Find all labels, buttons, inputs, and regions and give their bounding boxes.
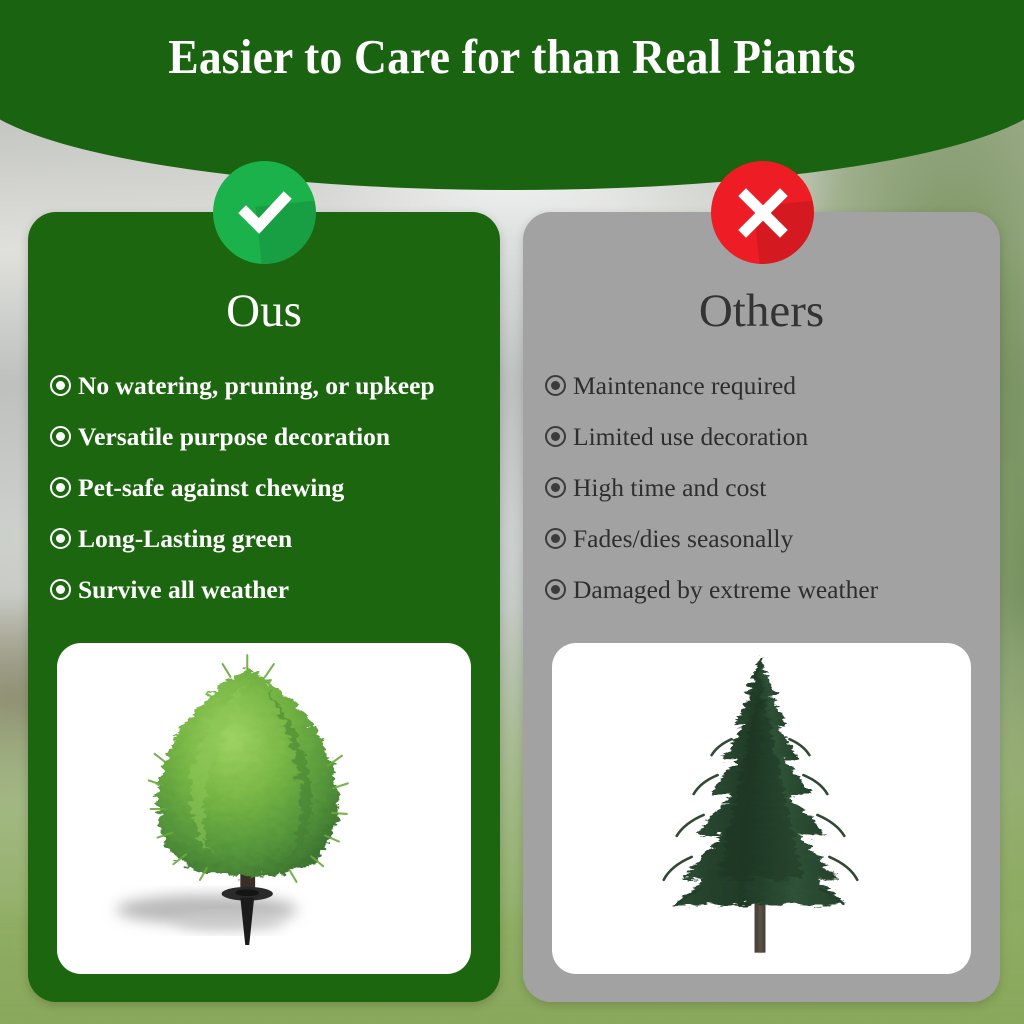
- list-item: High time and cost: [523, 462, 1000, 513]
- ours-product-photo: [57, 643, 471, 974]
- list-item: Long-Lasting green: [28, 513, 500, 564]
- list-item: Fades/dies seasonally: [523, 513, 1000, 564]
- list-item: No watering, pruning, or upkeep: [28, 360, 500, 411]
- feature-label: Maintenance required: [573, 371, 796, 401]
- cross-badge: [711, 161, 814, 264]
- feature-label: Fades/dies seasonally: [573, 524, 793, 554]
- feature-label: High time and cost: [573, 473, 766, 503]
- list-item: Survive all weather: [28, 564, 500, 615]
- bullet-icon: [545, 528, 566, 549]
- page-title: Easier to Care for than Real Piants: [36, 0, 988, 112]
- bullet-icon: [50, 528, 71, 549]
- feature-label: Survive all weather: [78, 575, 289, 605]
- ours-feature-list: No watering, pruning, or upkeep Versatil…: [28, 360, 500, 615]
- comparison-infographic: Easier to Care for than Real Piants Ous …: [0, 0, 1024, 1024]
- bullet-icon: [545, 579, 566, 600]
- ours-heading: Ous: [28, 288, 500, 335]
- others-heading: Others: [523, 288, 1000, 335]
- list-item: Pet-safe against chewing: [28, 462, 500, 513]
- feature-label: Versatile purpose decoration: [78, 422, 390, 452]
- bullet-icon: [50, 375, 71, 396]
- feature-label: Pet-safe against chewing: [78, 473, 344, 503]
- others-feature-list: Maintenance required Limited use decorat…: [523, 360, 1000, 615]
- list-item: Limited use decoration: [523, 411, 1000, 462]
- bullet-icon: [545, 426, 566, 447]
- others-product-photo: [552, 643, 971, 974]
- feature-label: No watering, pruning, or upkeep: [78, 371, 435, 401]
- cross-icon: [734, 184, 792, 242]
- bullet-icon: [50, 477, 71, 498]
- bullet-icon: [545, 477, 566, 498]
- check-icon: [234, 182, 296, 244]
- list-item: Damaged by extreme weather: [523, 564, 1000, 615]
- list-item: Versatile purpose decoration: [28, 411, 500, 462]
- feature-label: Limited use decoration: [573, 422, 808, 452]
- feature-label: Long-Lasting green: [78, 524, 292, 554]
- feature-label: Damaged by extreme weather: [573, 575, 878, 605]
- bullet-icon: [50, 426, 71, 447]
- check-badge: [213, 161, 316, 264]
- bullet-icon: [50, 579, 71, 600]
- bullet-icon: [545, 375, 566, 396]
- others-card: Others Maintenance required Limited use …: [523, 212, 1000, 1002]
- list-item: Maintenance required: [523, 360, 1000, 411]
- ours-card: Ous No watering, pruning, or upkeep Vers…: [28, 212, 500, 1002]
